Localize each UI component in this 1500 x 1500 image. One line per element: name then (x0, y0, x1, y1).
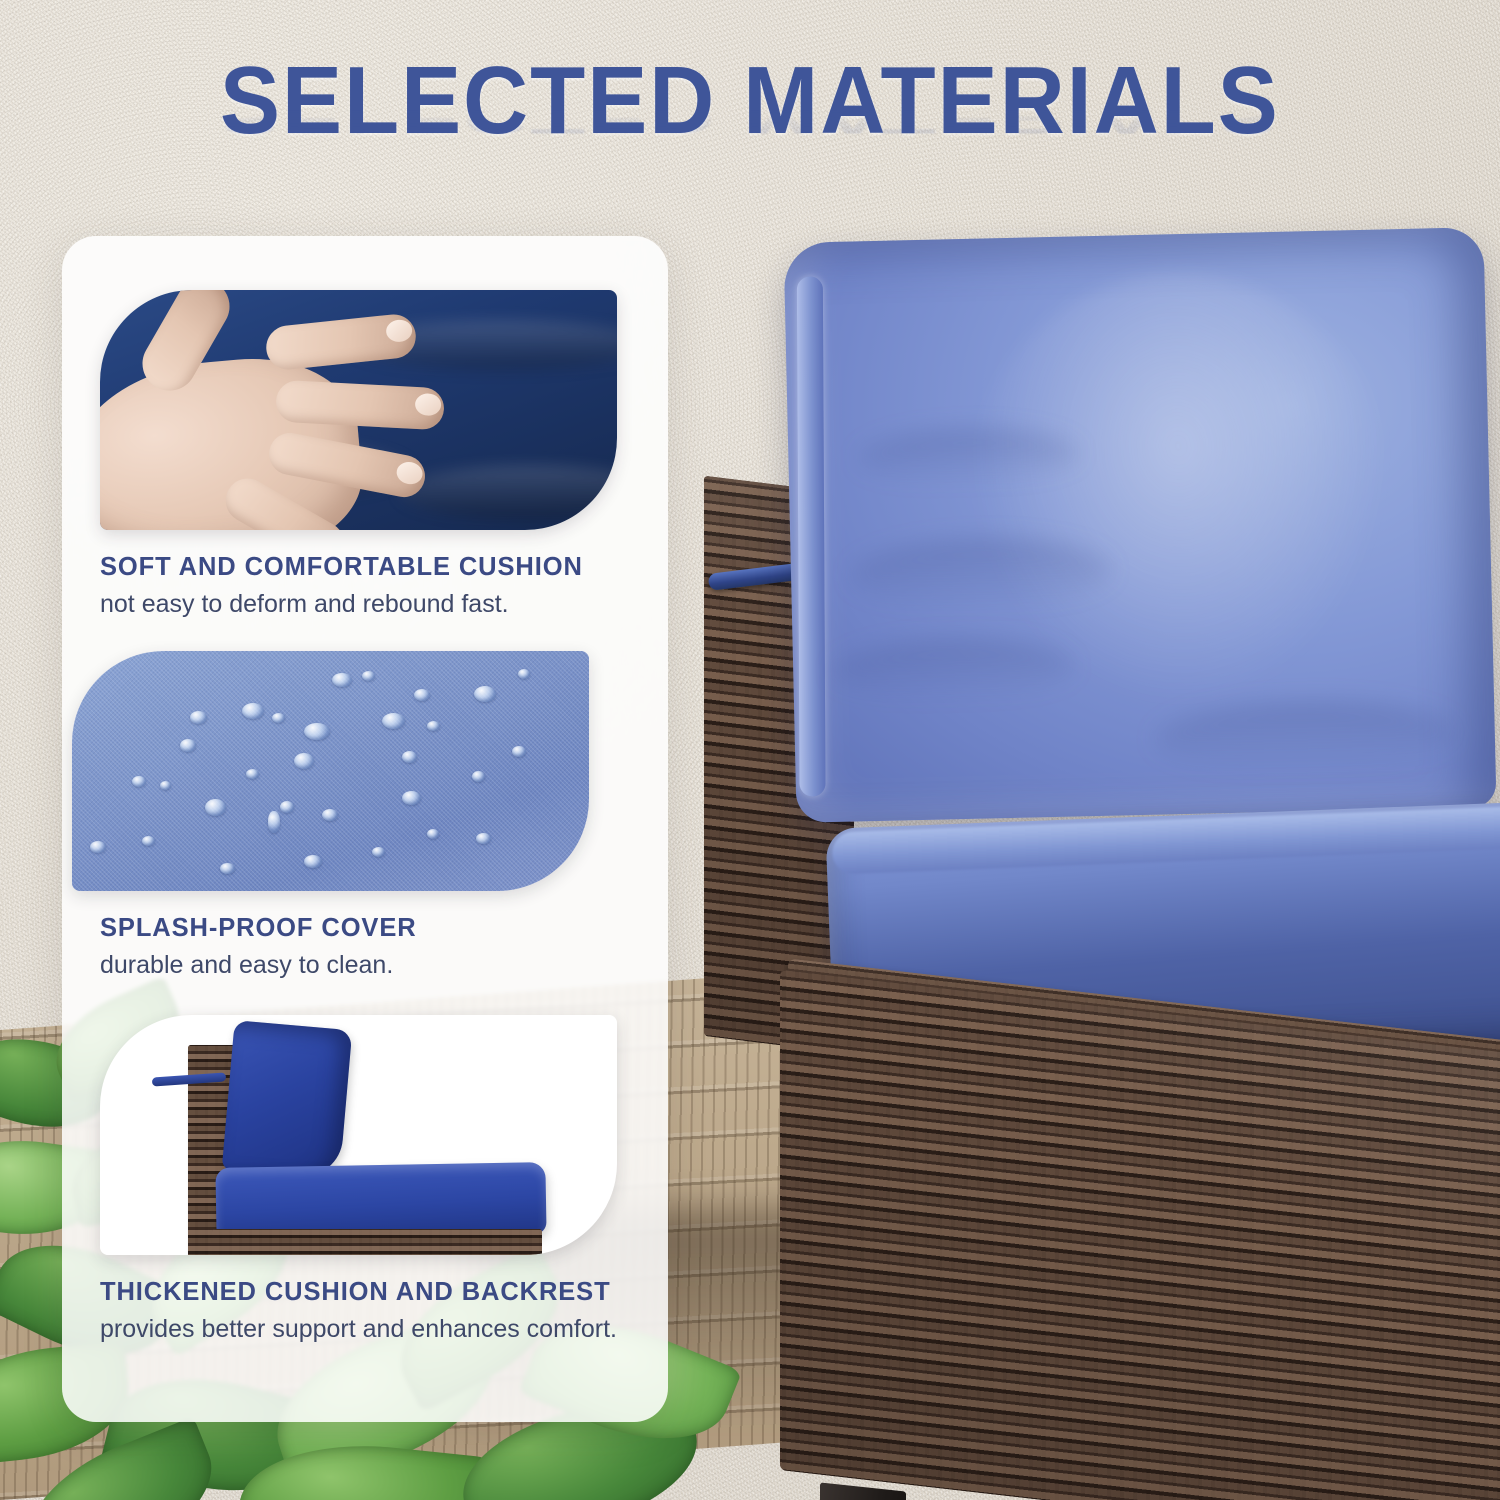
chair-render-backdrop (100, 1015, 617, 1255)
feature-heading: THICKENED CUSHION AND BACKREST (100, 1278, 640, 1307)
fabric-twill-texture (72, 651, 589, 891)
cushion-fold (1154, 698, 1456, 775)
render-base-wicker (212, 1229, 542, 1255)
feature-image-splash-proof (72, 651, 589, 891)
blue-fabric-backdrop (72, 651, 589, 891)
feature-body: durable and easy to clean. (100, 949, 640, 981)
navy-cushion-backdrop (100, 290, 617, 530)
cushion-piping (797, 276, 826, 796)
middle-finger (275, 380, 445, 431)
index-finger (264, 312, 418, 371)
scene: SOFT AND COMFORTABLE CUSHION not easy to… (0, 0, 1500, 1500)
feature-body: provides better support and enhances com… (100, 1313, 640, 1345)
hero-product-photo (660, 215, 1500, 1500)
feature-caption-thickened-cushion: THICKENED CUSHION AND BACKREST provides … (100, 1278, 640, 1345)
feature-caption-soft-cushion: SOFT AND COMFORTABLE CUSHION not easy to… (100, 553, 640, 620)
page-title-block: SELECTED MATERIALS SELECTED MATERIALS (0, 46, 1500, 252)
cushion-fold (833, 637, 1074, 702)
feature-heading: SPLASH-PROOF COVER (100, 914, 640, 943)
feature-image-thickened-cushion (100, 1015, 617, 1255)
feature-body: not easy to deform and rebound fast. (100, 588, 640, 620)
chair-base-wicker (780, 970, 1500, 1500)
feature-heading: SOFT AND COMFORTABLE CUSHION (100, 553, 640, 582)
rattan-weave-texture (212, 1229, 542, 1255)
feature-image-soft-cushion (100, 290, 617, 530)
feature-caption-splash-proof: SPLASH-PROOF COVER durable and easy to c… (100, 914, 640, 981)
render-backrest-cushion (222, 1020, 353, 1180)
rattan-weave-texture (780, 970, 1500, 1500)
hand-illustration (100, 310, 500, 530)
chair-leg (820, 1482, 906, 1500)
backrest-cushion (784, 227, 1497, 823)
features-panel: SOFT AND COMFORTABLE CUSHION not easy to… (62, 236, 668, 1422)
page-title-reflection: SELECTED MATERIALS (45, 96, 1455, 142)
cushion-highlight (964, 269, 1394, 708)
